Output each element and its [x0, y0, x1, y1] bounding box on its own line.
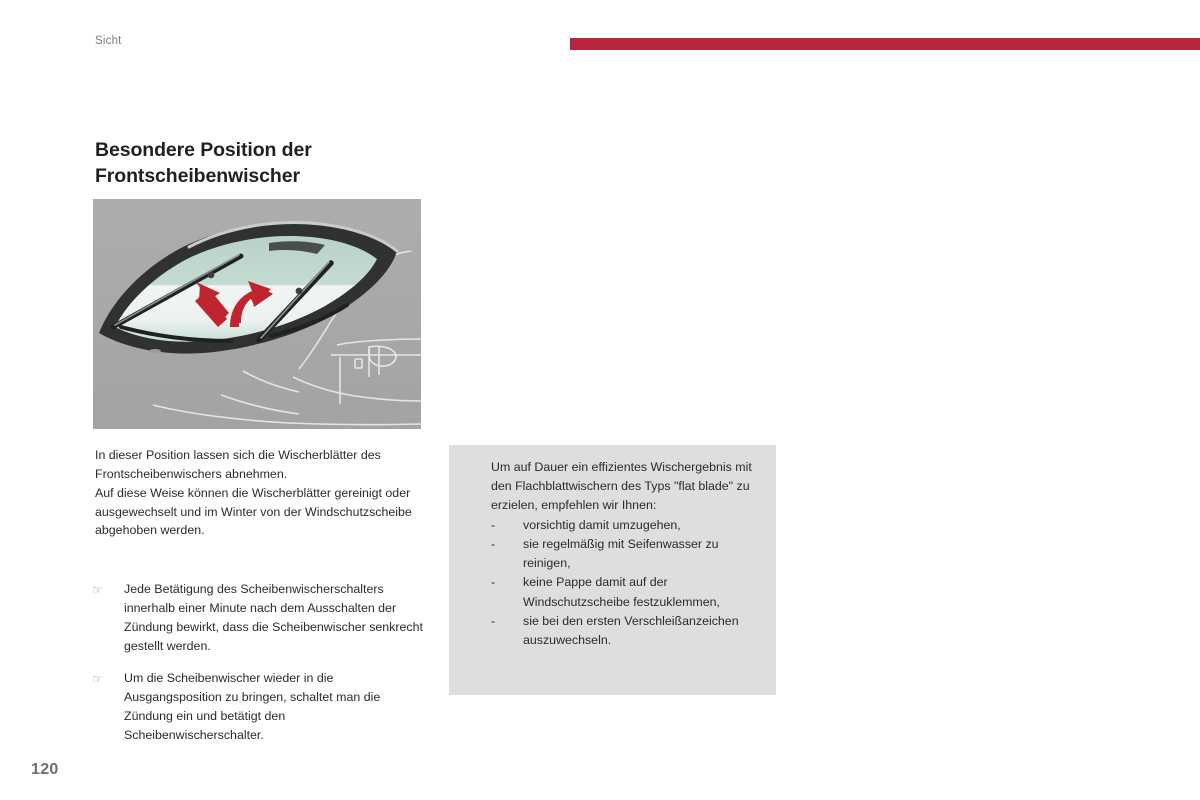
list-item-text: vorsichtig damit umzugehen, [523, 516, 758, 535]
pointing-hand-icon: ☞ [92, 580, 124, 599]
dash-marker: - [491, 573, 523, 592]
body-paragraph-1: In dieser Position lassen sich die Wisch… [95, 446, 420, 484]
manual-page: Sicht Besondere Position der Frontscheib… [0, 0, 1200, 800]
info-box: Um auf Dauer ein effizientes Wischergebn… [449, 445, 776, 695]
info-box-intro: Um auf Dauer ein effizientes Wischergebn… [491, 458, 758, 516]
list-item: ☞ Um die Scheibenwischer wieder in die A… [92, 669, 427, 744]
dash-marker: - [491, 535, 523, 554]
body-paragraph-2: Auf diese Weise können die Wischerblätte… [95, 484, 420, 541]
list-item: - vorsichtig damit umzugehen, [491, 516, 758, 535]
hand-bullet-list: ☞ Jede Betätigung des Scheibenwischersch… [92, 580, 427, 759]
list-item-text: keine Pappe damit auf der Windschutzsche… [523, 573, 758, 611]
info-icon [449, 458, 491, 461]
windscreen-illustration-svg [93, 199, 421, 429]
list-item: - sie regelmäßig mit Seifenwasser zu rei… [491, 535, 758, 573]
dash-marker: - [491, 612, 523, 631]
wiper-position-figure [93, 199, 421, 429]
list-item-text: sie regelmäßig mit Seifenwasser zu reini… [523, 535, 758, 573]
pointing-hand-icon: ☞ [92, 669, 124, 688]
page-number: 120 [31, 761, 59, 779]
list-item: ☞ Jede Betätigung des Scheibenwischersch… [92, 580, 427, 655]
body-text: In dieser Position lassen sich die Wisch… [95, 446, 420, 540]
page-title: Besondere Position der Frontscheibenwisc… [95, 138, 515, 189]
header-rule [570, 38, 1200, 50]
info-dash-list: - vorsichtig damit umzugehen, - sie rege… [491, 516, 758, 651]
list-item-text: sie bei den ersten Verschleißanzeichen a… [523, 612, 758, 650]
list-item: - sie bei den ersten Verschleißanzeichen… [491, 612, 758, 650]
list-item-text: Jede Betätigung des Scheibenwischerschal… [124, 580, 427, 655]
dash-marker: - [491, 516, 523, 535]
chapter-label: Sicht [95, 35, 122, 47]
info-box-body: Um auf Dauer ein effizientes Wischergebn… [491, 458, 758, 650]
list-item-text: Um die Scheibenwischer wieder in die Aus… [124, 669, 427, 744]
list-item: - keine Pappe damit auf der Windschutzsc… [491, 573, 758, 611]
